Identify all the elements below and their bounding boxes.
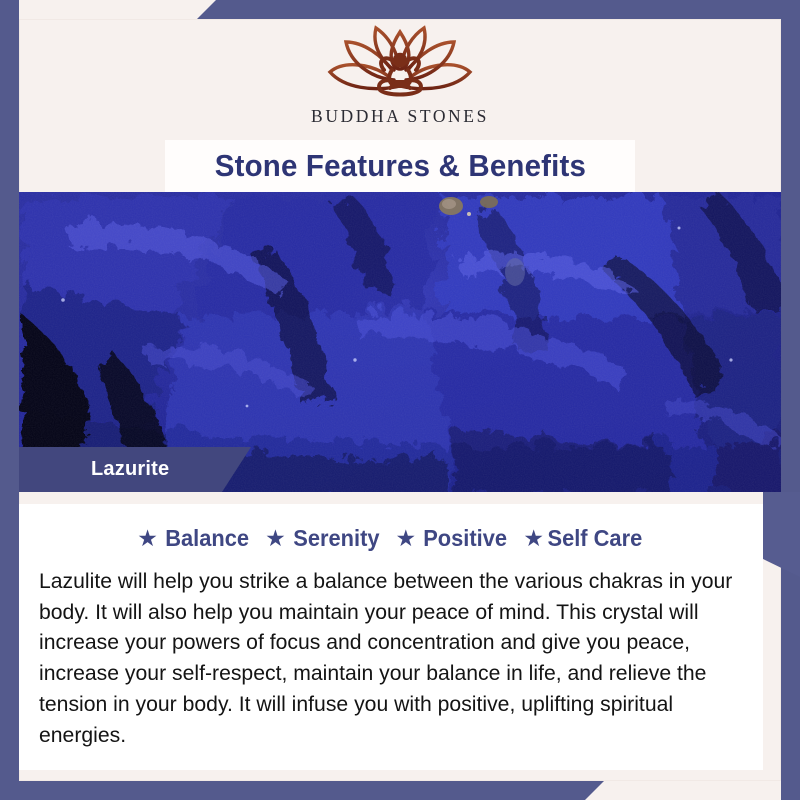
title-banner: Stone Features & Benefits <box>165 140 635 192</box>
right-decorative-tab <box>763 492 800 577</box>
star-icon: ★ <box>523 527 544 550</box>
brand-name: BUDDHA STONES <box>311 106 489 127</box>
feature-item: ★ Balance <box>137 525 251 552</box>
star-icon: ★ <box>265 527 286 550</box>
stone-name-tab: Lazurite <box>19 447 251 492</box>
feature-item: ★ Self Care <box>523 525 644 552</box>
feature-label: Positive <box>423 525 507 552</box>
frame-band-bottom <box>0 781 800 800</box>
feature-label: Self Care <box>547 525 642 552</box>
stone-info-poster: BUDDHA STONES Stone Features & Benefits <box>0 0 800 800</box>
brand-logo: BUDDHA STONES <box>0 20 800 142</box>
star-icon: ★ <box>137 527 158 550</box>
content-card: ★ Balance ★ Serenity ★ Positive ★ Self C… <box>19 504 763 770</box>
lotus-meditation-icon <box>314 20 486 104</box>
feature-item: ★ Positive <box>396 525 510 552</box>
feature-item: ★ Serenity <box>265 525 381 552</box>
star-icon: ★ <box>396 527 417 550</box>
frame-band-top <box>0 0 800 19</box>
page-title: Stone Features & Benefits <box>214 148 585 184</box>
stone-description: Lazulite will help you strike a balance … <box>39 566 732 750</box>
stone-name-label: Lazurite <box>91 458 169 481</box>
feature-label: Serenity <box>293 525 379 552</box>
feature-label: Balance <box>165 525 249 552</box>
features-row: ★ Balance ★ Serenity ★ Positive ★ Self C… <box>19 504 763 552</box>
